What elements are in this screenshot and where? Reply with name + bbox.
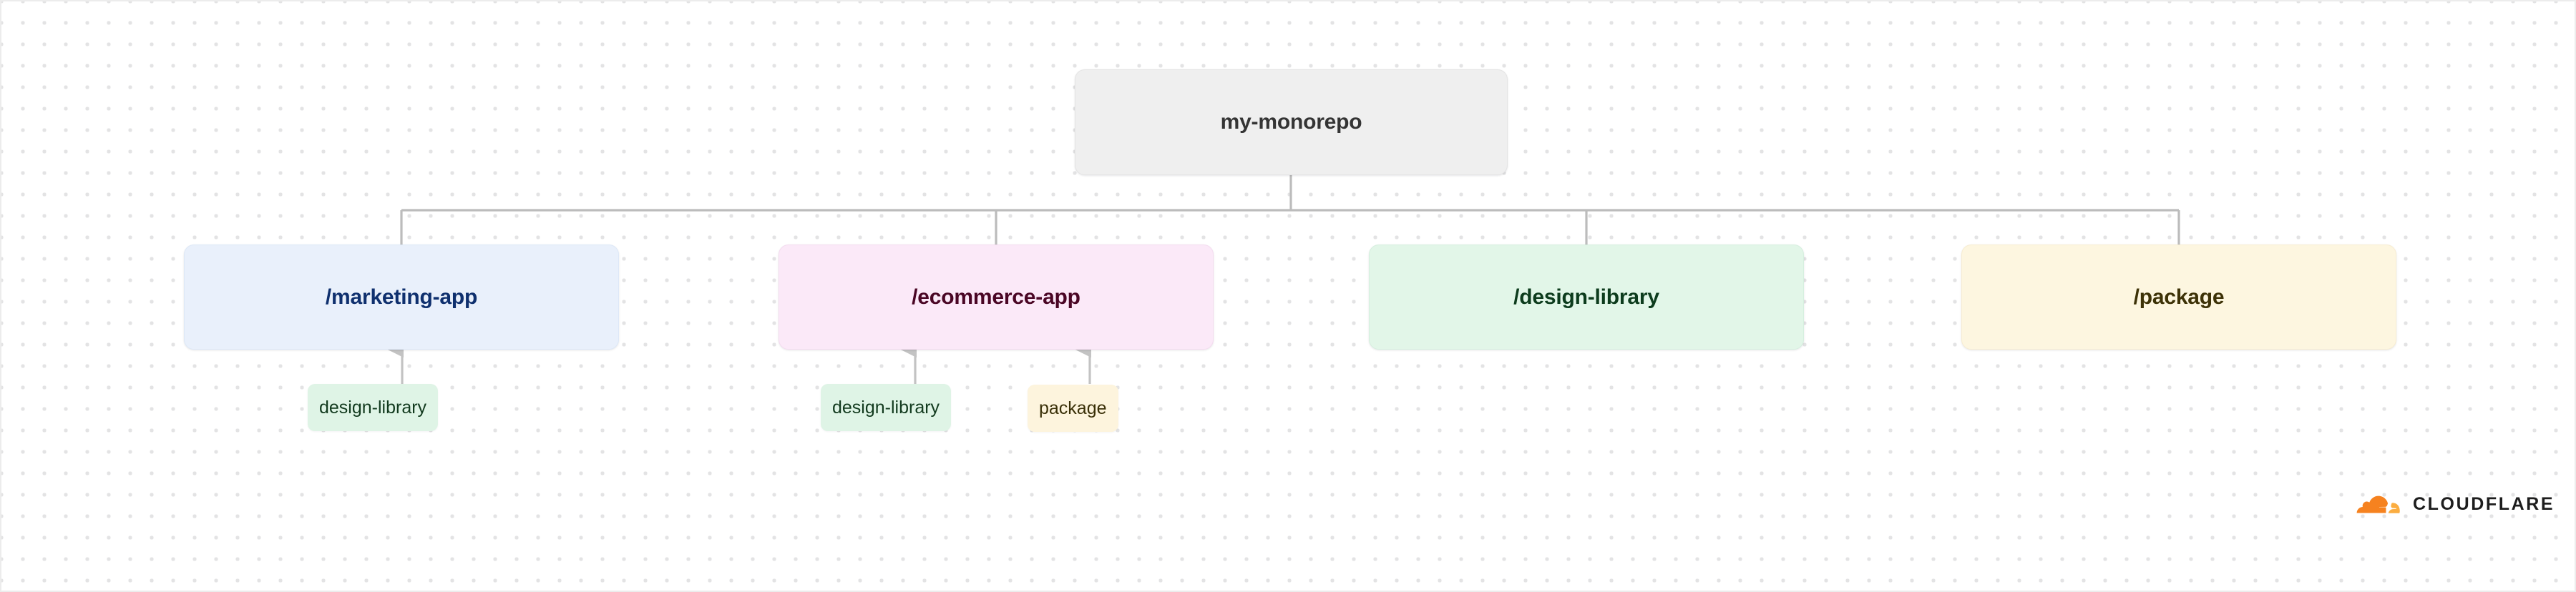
node-package[interactable]: /package (1961, 245, 2396, 350)
diagram-canvas[interactable]: my-monorepo /marketing-app /ecommerce-ap… (0, 0, 2576, 592)
cloudflare-wordmark: CLOUDFLARE (2413, 495, 2555, 513)
node-design-library[interactable]: /design-library (1369, 245, 1804, 350)
node-label: my-monorepo (1221, 112, 1362, 133)
dependency-tag-label: package (1039, 400, 1107, 418)
node-label: /marketing-app (326, 287, 477, 308)
node-my-monorepo[interactable]: my-monorepo (1075, 69, 1508, 175)
dependency-tag-label: design-library (832, 399, 940, 417)
cloudflare-logo: CLOUDFLARE (2351, 492, 2555, 516)
node-label: /design-library (1513, 287, 1659, 308)
node-marketing-app[interactable]: /marketing-app (184, 245, 619, 350)
node-ecommerce-app[interactable]: /ecommerce-app (779, 245, 1214, 350)
dependency-tag-ecommerce-design-library[interactable]: design-library (821, 384, 951, 431)
dependency-tag-marketing-design-library[interactable]: design-library (308, 384, 438, 431)
dependency-tag-label: design-library (319, 399, 426, 417)
dependency-tag-ecommerce-package[interactable]: package (1028, 385, 1118, 432)
node-label: /package (2134, 287, 2225, 308)
node-label: /ecommerce-app (912, 287, 1080, 308)
cloudflare-cloud-icon (2351, 492, 2404, 516)
